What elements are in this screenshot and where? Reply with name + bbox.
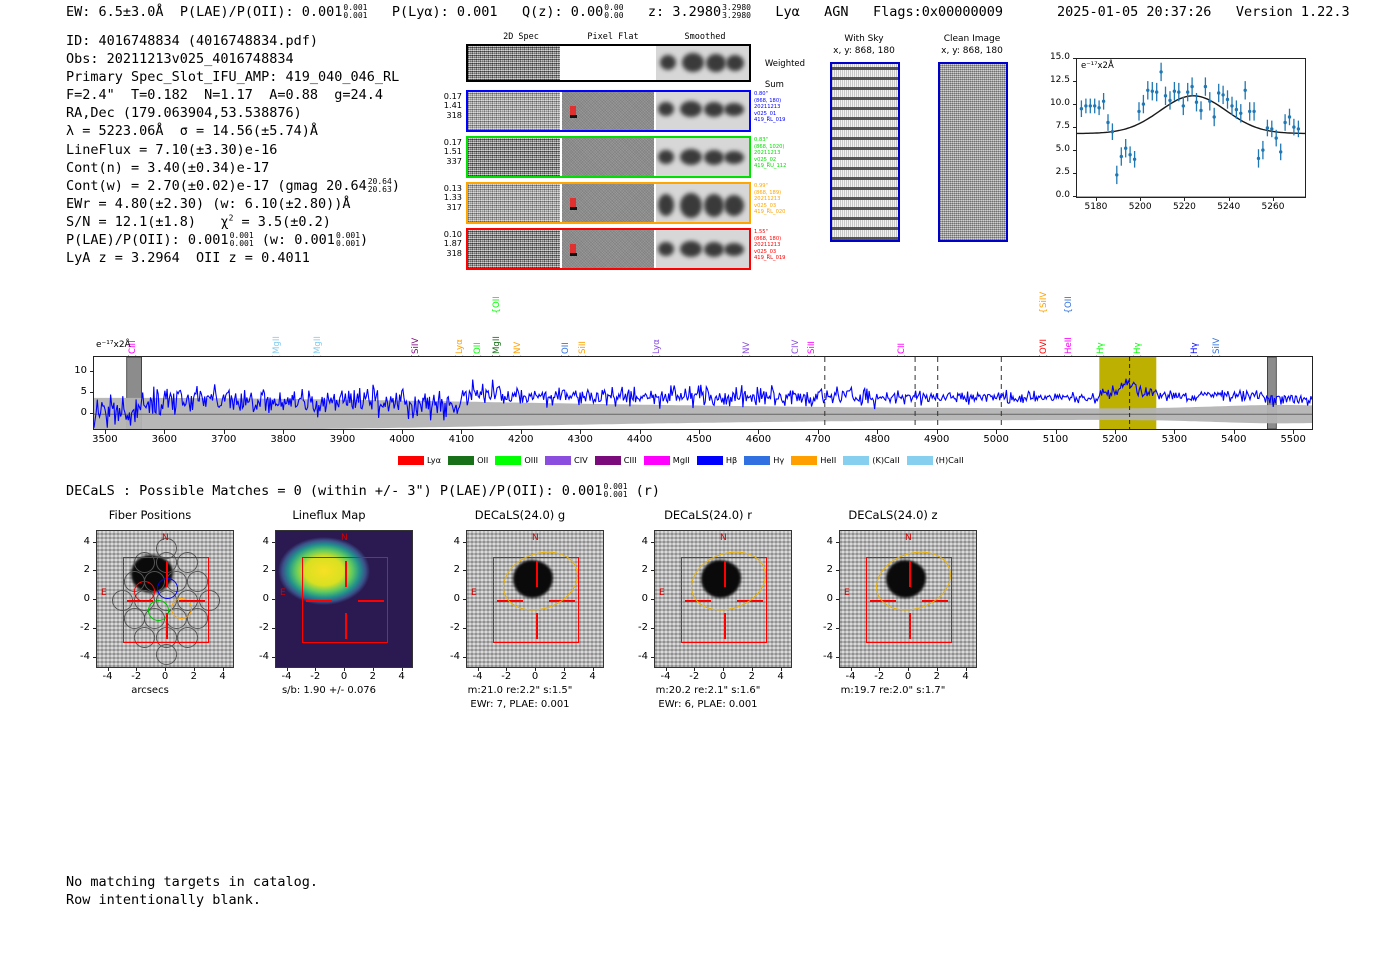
emission-line-label: MgII — [313, 324, 323, 354]
decals-xtick-label: 0 — [334, 671, 354, 682]
spectrum-xtick-label: 5400 — [1214, 434, 1254, 445]
decals-ytick-label: -2 — [245, 622, 269, 633]
decals-caption-2: EWr: 7, PLAE: 0.001 — [436, 698, 604, 711]
east-label: E — [471, 588, 477, 598]
decals-ytick-label: -4 — [624, 651, 648, 662]
row-smoothed-image — [656, 230, 749, 268]
decals-ytick-label: 2 — [436, 564, 460, 575]
crosshair-vertical-bottom — [345, 613, 347, 639]
spectrum-xtick-label: 4600 — [738, 434, 778, 445]
spectrum-xtick-label: 4800 — [857, 434, 897, 445]
spectrum-xtick-label: 5100 — [1036, 434, 1076, 445]
full-spectrum-units-annotation: e⁻¹⁷x2Å — [96, 340, 131, 350]
decals-ytick — [93, 542, 96, 543]
spectrum-xtick-label: 3900 — [323, 434, 363, 445]
legend-label: Lyα — [427, 455, 441, 465]
emission-line-label: OII — [1064, 278, 1074, 308]
info-plae: P(LAE)/P(OII): 0.001 — [66, 232, 229, 248]
header-qz-label: Q(z): — [522, 4, 563, 20]
line-fit-ytick — [1073, 58, 1076, 59]
decals-ytick-label: 2 — [245, 564, 269, 575]
legend-label: MgII — [673, 455, 690, 465]
line-fit-ytick — [1073, 81, 1076, 82]
emission-line-label: SiII — [578, 324, 588, 354]
row-smoothed-image — [656, 184, 749, 222]
decals-panel-title: DECaLS(24.0) r — [624, 508, 792, 522]
east-label: E — [659, 588, 665, 598]
line-fit-ytick — [1073, 196, 1076, 197]
line-fit-xtick — [1140, 198, 1141, 201]
decals-panel-title: DECaLS(24.0) g — [436, 508, 604, 522]
row-pixelflat-image — [562, 92, 654, 130]
crosshair-horizontal-left — [306, 600, 332, 602]
north-label: N — [720, 533, 727, 543]
legend-label: HeII — [820, 455, 836, 465]
emission-line-legend: Lyα OII OIII CIV CIII MgII Hβ Hγ HeII (K… — [398, 455, 964, 465]
header-plya-value: 0.001 — [457, 4, 498, 20]
row-metadata: 1.55"(868, 180)20211213v025_03419_RL_019 — [754, 229, 786, 262]
decals-ytick-label: -4 — [245, 651, 269, 662]
info-cont-w: Cont(w) = 2.70(±0.02)e-17 (gmag 20.64 — [66, 178, 367, 194]
decals-panel: DECaLS(24.0) gNE-4-4-2-2002244m:21.0 re:… — [436, 508, 604, 723]
decals-panel: DECaLS(24.0) zNE-4-4-2-2002244m:19.7 re:… — [809, 508, 977, 723]
row-2dspec-image — [468, 138, 560, 176]
with-sky-image — [830, 62, 900, 242]
decals-ytick-label: -4 — [66, 651, 90, 662]
decals-xlabel: arcsecs — [66, 684, 234, 697]
emission-line-label: NV — [742, 324, 752, 354]
spectrum-xtick-label: 3800 — [263, 434, 303, 445]
decals-xtick-label: -4 — [468, 671, 488, 682]
footer-notes: No matching targets in catalog. Row inte… — [66, 873, 318, 909]
row-stat-3: 317 — [420, 203, 462, 212]
spectrum-xtick-label: 3600 — [144, 434, 184, 445]
decals-ytick-label: 0 — [436, 593, 460, 604]
source-info-block: ID: 4016748834 (4016748834.pdf) Obs: 202… — [66, 32, 400, 267]
decals-ytick-label: 4 — [245, 536, 269, 547]
emission-line-brace: { — [1039, 308, 1049, 314]
decals-ytick-label: 2 — [624, 564, 648, 575]
decals-ytick-label: 0 — [66, 593, 90, 604]
decals-ytick-label: -4 — [436, 651, 460, 662]
info-plae-close: ) — [360, 232, 368, 248]
legend-item: OII — [448, 455, 488, 465]
decals-ytick — [272, 657, 275, 658]
decals-panel-title: Fiber Positions — [66, 508, 234, 522]
line-fit-ytick-label: 5.0 — [1036, 144, 1070, 154]
with-sky-title-xy: x, y: 868, 180 — [833, 46, 895, 56]
emission-line-brace: { — [1064, 308, 1074, 314]
row-2dspec-image — [468, 184, 560, 222]
line-fit-xtick-label: 5180 — [1082, 202, 1110, 212]
decals-ytick — [93, 657, 96, 658]
legend-item: OIII — [495, 455, 538, 465]
line-fit-plot-area: e⁻¹⁷x2Å — [1076, 58, 1306, 198]
decals-caption-1: m:20.2 re:2.1" s:1.6" — [624, 684, 792, 697]
decals-ytick — [651, 657, 654, 658]
row-pixelflat-image — [562, 184, 654, 222]
decals-caption-2: EWr: 6, PLAE: 0.001 — [624, 698, 792, 711]
decals-cutout-row: Fiber PositionsNE-4-4-2-2002244arcsecsLi… — [0, 508, 1400, 728]
legend-label: (H)CaII — [936, 455, 964, 465]
decals-ytick-label: 4 — [436, 536, 460, 547]
legend-item: Lyα — [398, 455, 441, 465]
crosshair-vertical-bottom — [724, 613, 726, 639]
row-smoothed-image — [656, 138, 749, 176]
decals-panel-image: NE — [839, 530, 977, 668]
legend-label: Hγ — [773, 455, 784, 465]
legend-label: CIII — [624, 455, 637, 465]
info-primary-spec: Primary Spec_Slot_IFU_AMP: 419_040_046_R… — [66, 69, 399, 85]
decals-xtick-label: 4 — [392, 671, 412, 682]
row-metadata: 0.83"(868, 1020)20211213v025_02419_RU_11… — [754, 137, 786, 170]
line-fit-ytick-label: 15.0 — [1036, 52, 1070, 62]
line-fit-xtick — [1229, 198, 1230, 201]
spec2d-row — [466, 90, 751, 132]
decals-ytick — [836, 657, 839, 658]
info-ewr: EWr = 4.80(±2.30) (w: 6.10(±2.80))Å — [66, 196, 350, 212]
legend-item: MgII — [644, 455, 690, 465]
row-stats: 0.17 1.51 337 — [420, 138, 462, 166]
clean-image-title-xy: x, y: 868, 180 — [941, 46, 1003, 56]
line-fit-ytick — [1073, 104, 1076, 105]
decals-xtick-label: 2 — [554, 671, 574, 682]
decals-header-band: (r) — [636, 483, 660, 499]
spectrum-xtick-label: 5300 — [1154, 434, 1194, 445]
header-qz-lo: 0.00 — [604, 12, 623, 20]
emission-line-label: OII — [561, 324, 571, 354]
decals-panel-image: NE — [275, 530, 413, 668]
info-radec: RA,Dec (179.063904,53.538876) — [66, 105, 302, 121]
emission-line-label: OVI — [1039, 324, 1049, 354]
spectrum-ytick — [90, 413, 93, 414]
decals-ytick-label: 4 — [66, 536, 90, 547]
crosshair-horizontal-right — [179, 600, 205, 602]
decals-caption-1: m:21.0 re:2.2" s:1.5" — [436, 684, 604, 697]
header-z-label: z: — [648, 4, 664, 20]
crosshair-vertical-top — [345, 561, 347, 587]
decals-xtick-label: -2 — [126, 671, 146, 682]
legend-swatch — [495, 456, 521, 465]
decals-ytick — [836, 599, 839, 600]
footer-line-2: Row intentionally blank. — [66, 892, 261, 908]
header-summary-line: EW: 6.5±3.0Å P(LAE)/P(OII): 0.0010.0010.… — [66, 4, 1003, 20]
footer-line-1: No matching targets in catalog. — [66, 874, 318, 890]
legend-swatch — [843, 456, 869, 465]
emission-line-label: SiIV — [1212, 324, 1222, 354]
emission-line-brace: { — [492, 308, 502, 314]
decals-panel: Fiber PositionsNE-4-4-2-2002244arcsecs — [66, 508, 234, 723]
decals-ytick-label: 0 — [245, 593, 269, 604]
decals-xtick-label: 0 — [155, 671, 175, 682]
info-lineflux: LineFlux = 7.10(±3.30)e-16 — [66, 142, 277, 158]
header-z-lo: 3.2980 — [722, 12, 751, 20]
spectrum-xtick-label: 5500 — [1273, 434, 1313, 445]
decals-xtick-label: 0 — [525, 671, 545, 682]
decals-ytick — [651, 570, 654, 571]
row-metadata: 0.80"(868, 180)20211213v025_01419_RL_019 — [754, 91, 786, 124]
row-stats: 0.10 1.87 318 — [420, 230, 462, 258]
spec2d-row — [466, 136, 751, 178]
decals-panel: DECaLS(24.0) rNE-4-4-2-2002244m:20.2 re:… — [624, 508, 792, 723]
fiber-circle — [156, 644, 177, 665]
row-smoothed-image — [656, 92, 749, 130]
info-chi-symbol: χ — [220, 214, 228, 230]
emission-line-label: MgII — [492, 324, 502, 354]
header-plae-label: P(LAE)/P(OII): — [180, 4, 294, 20]
decals-xtick-label: 4 — [213, 671, 233, 682]
spectrum-xtick-label: 4700 — [798, 434, 838, 445]
emission-line-label: Lyα — [652, 324, 662, 354]
info-gmag-lo: 20.63 — [368, 186, 392, 194]
info-plae-w-lo: 0.001 — [336, 240, 360, 248]
header-qz-value: 0.00 — [571, 4, 604, 20]
crosshair-horizontal-right — [358, 600, 384, 602]
header-plya-label: P(Lyα): — [392, 4, 449, 20]
spectrum-xtick-label: 4000 — [382, 434, 422, 445]
decals-ytick — [836, 570, 839, 571]
info-obs: Obs: 20211213v025_4016748834 — [66, 51, 294, 67]
line-fit-xtick-label: 5200 — [1126, 202, 1154, 212]
decals-ytick-label: -2 — [624, 622, 648, 633]
east-label: E — [280, 588, 286, 598]
spec2d-row — [466, 228, 751, 270]
spectrum-ytick-label: 0 — [60, 407, 87, 418]
header-z-value: 3.2980 — [672, 4, 721, 20]
with-sky-title-line1: With Sky — [844, 34, 883, 44]
crosshair-vertical-bottom — [909, 613, 911, 639]
line-fit-ytick-label: 10.0 — [1036, 98, 1070, 108]
row-stats: 0.13 1.33 317 — [420, 184, 462, 212]
line-fit-ytick-label: 7.5 — [1036, 121, 1070, 131]
full-spectrum-plot-area — [93, 356, 1313, 430]
decals-ytick-label: 0 — [809, 593, 833, 604]
row-pixelflat-image — [562, 230, 654, 268]
line-fit-ytick-label: 12.5 — [1036, 75, 1070, 85]
row-pixelflat-image — [562, 138, 654, 176]
decals-ytick — [272, 628, 275, 629]
clean-image-title: Clean Image x, y: 868, 180 — [926, 34, 1018, 57]
info-seeing-params: F=2.4" T=0.182 N=1.17 A=0.88 g=24.4 — [66, 87, 383, 103]
line-fit-xtick-label: 5260 — [1259, 202, 1287, 212]
decals-xtick-label: -2 — [869, 671, 889, 682]
legend-swatch — [697, 456, 723, 465]
emission-line-label: Hγ — [1133, 324, 1143, 354]
decals-ytick-label: 4 — [624, 536, 648, 547]
decals-xtick-label: 4 — [956, 671, 976, 682]
legend-label: (K)CaII — [872, 455, 899, 465]
header-classification: AGN — [824, 4, 848, 20]
decals-ytick — [93, 570, 96, 571]
spec2d-panel: 2D Spec Pixel Flat Smoothed Weighted Sum — [440, 32, 785, 272]
decals-ytick-label: -2 — [66, 622, 90, 633]
info-chi-value: = 3.5(±0.2) — [233, 214, 331, 230]
info-id: ID: 4016748834 (4016748834.pdf) — [66, 33, 318, 49]
info-sn: S/N = 12.1(±1.8) — [66, 214, 220, 230]
decals-xtick-label: -4 — [841, 671, 861, 682]
emission-line-label: NV — [513, 324, 523, 354]
line-fit-ytick-label: 2.5 — [1036, 167, 1070, 177]
decals-ytick — [272, 542, 275, 543]
decals-xtick-label: 4 — [771, 671, 791, 682]
spec2d-row — [466, 182, 751, 224]
decals-plae-lo: 0.001 — [603, 491, 627, 499]
spectrum-xtick-label: 3500 — [85, 434, 125, 445]
emission-line-label: Hγ — [1190, 324, 1200, 354]
east-label: E — [101, 588, 107, 598]
spectrum-ytick — [90, 371, 93, 372]
info-redshifts: LyA z = 3.2964 OII z = 0.4011 — [66, 250, 310, 266]
decals-ytick-label: 0 — [624, 593, 648, 604]
header-meta: 2025-01-05 20:37:26 Version 1.22.3 — [1057, 4, 1350, 20]
row-stat-3: 318 — [420, 111, 462, 120]
decals-xtick-label: -2 — [684, 671, 704, 682]
legend-item: (K)CaII — [843, 455, 899, 465]
legend-swatch — [545, 456, 571, 465]
full-spectrum-chart: CIII{MgII{MgII{SiIV{Lyα{OII{MgII{OII{NV{… — [60, 276, 1340, 466]
decals-xtick-label: 2 — [363, 671, 383, 682]
decals-panel-title: DECaLS(24.0) z — [809, 508, 977, 522]
decals-xtick-label: -2 — [496, 671, 516, 682]
decals-xtick-label: -4 — [656, 671, 676, 682]
decals-xtick-label: -2 — [305, 671, 325, 682]
legend-item: (H)CaII — [907, 455, 964, 465]
line-fit-ytick — [1073, 173, 1076, 174]
legend-item: CIII — [595, 455, 637, 465]
header-line-id: Lyα — [775, 4, 799, 20]
decals-ytick-label: 2 — [809, 564, 833, 575]
info-cont-n: Cont(n) = 3.40(±0.34)e-17 — [66, 160, 269, 176]
decals-panel-title: Lineflux Map — [245, 508, 413, 522]
line-fit-units-annotation: e⁻¹⁷x2Å — [1081, 61, 1114, 71]
decals-caption-1: s/b: 1.90 +/- 0.076 — [245, 684, 413, 697]
spectrum-xtick-label: 4400 — [620, 434, 660, 445]
emission-line-labels: CIII{MgII{MgII{SiIV{Lyα{OII{MgII{OII{NV{… — [60, 276, 1340, 356]
header-version: Version 1.22.3 — [1236, 4, 1350, 20]
line-fit-xtick-label: 5220 — [1170, 202, 1198, 212]
spectrum-xtick-label: 4300 — [560, 434, 600, 445]
legend-label: OII — [477, 455, 488, 465]
spectrum-ytick-label: 5 — [60, 386, 87, 397]
legend-swatch — [744, 456, 770, 465]
emission-line-label: CII — [897, 324, 907, 354]
decals-ytick — [463, 628, 466, 629]
row-2dspec-image — [468, 230, 560, 268]
emission-line-label: CIV — [791, 324, 801, 354]
info-plae-lo: 0.001 — [230, 240, 254, 248]
north-label: N — [532, 533, 539, 543]
decals-ytick — [651, 599, 654, 600]
legend-item: Hβ — [697, 455, 737, 465]
decals-ytick-label: -2 — [436, 622, 460, 633]
north-label: N — [162, 533, 169, 543]
legend-swatch — [448, 456, 474, 465]
spectrum-xtick-label: 5000 — [976, 434, 1016, 445]
emission-line-label: MgII — [272, 324, 282, 354]
decals-panel-image: NE — [466, 530, 604, 668]
decals-ytick — [836, 628, 839, 629]
legend-item: HeII — [791, 455, 836, 465]
decals-xtick-label: -4 — [277, 671, 297, 682]
emission-line-label: HeII — [1064, 324, 1074, 354]
line-fit-xtick-label: 5240 — [1215, 202, 1243, 212]
spectrum-xtick-label: 4200 — [501, 434, 541, 445]
decals-ytick — [272, 599, 275, 600]
decals-ytick-label: -2 — [809, 622, 833, 633]
decals-ytick-label: -4 — [809, 651, 833, 662]
spectrum-xtick-label: 4100 — [441, 434, 481, 445]
legend-swatch — [791, 456, 817, 465]
legend-label: OIII — [524, 455, 538, 465]
row-2dspec-image — [468, 92, 560, 130]
crosshair-horizontal-left — [127, 600, 153, 602]
decals-header-text: DECaLS : Possible Matches = 0 (within +/… — [66, 483, 602, 499]
legend-swatch — [595, 456, 621, 465]
info-cont-w-close: ) — [392, 178, 400, 194]
line-fit-xtick — [1184, 198, 1185, 201]
emission-line-label: SiIV — [1039, 278, 1049, 308]
header-plae-value: 0.001 — [302, 4, 343, 20]
decals-panel-image: NE — [654, 530, 792, 668]
decals-xtick-label: 0 — [713, 671, 733, 682]
row-stats: 0.17 1.41 318 — [420, 92, 462, 120]
east-label: E — [844, 588, 850, 598]
clean-image-title-line1: Clean Image — [944, 34, 1001, 44]
line-fit-xtick — [1096, 198, 1097, 201]
header-timestamp: 2025-01-05 20:37:26 — [1057, 4, 1211, 20]
decals-ytick — [463, 542, 466, 543]
decals-ytick — [93, 628, 96, 629]
clean-image-image — [938, 62, 1008, 242]
decals-ytick — [272, 570, 275, 571]
line-fit-ytick — [1073, 127, 1076, 128]
legend-item: CIV — [545, 455, 588, 465]
spectrum-ytick-label: 10 — [60, 365, 87, 376]
spec2d-fiber-rows: 0.17 1.41 3180.80"(868, 180)20211213v025… — [440, 32, 785, 272]
emission-line-label: SiII — [807, 324, 817, 354]
decals-ytick — [463, 570, 466, 571]
decals-xtick-label: 2 — [927, 671, 947, 682]
decals-caption-1: m:19.7 re:2.0" s:1.7" — [809, 684, 977, 697]
legend-label: CIV — [574, 455, 588, 465]
spectrum-xtick-label: 3700 — [204, 434, 244, 445]
legend-swatch — [398, 456, 424, 465]
decals-ytick — [463, 657, 466, 658]
decals-xtick-label: 0 — [898, 671, 918, 682]
header-flags: Flags:0x00000009 — [873, 4, 1003, 20]
crosshair-vertical-bottom — [166, 613, 168, 639]
decals-ytick — [836, 542, 839, 543]
line-fit-xtick — [1273, 198, 1274, 201]
spectrum-ytick — [90, 392, 93, 393]
line-fit-chart: e⁻¹⁷x2Å 518052005220524052600.02.55.07.5… — [1040, 52, 1310, 207]
decals-header: DECaLS : Possible Matches = 0 (within +/… — [66, 483, 660, 499]
with-sky-title: With Sky x, y: 868, 180 — [818, 34, 910, 57]
spectrum-xtick-label: 4500 — [679, 434, 719, 445]
north-label: N — [341, 533, 348, 543]
crosshair-vertical-bottom — [536, 613, 538, 639]
legend-label: Hβ — [726, 455, 737, 465]
decals-ytick — [463, 599, 466, 600]
row-metadata: 0.99"(868, 189)20211213v025_03419_RL_020 — [754, 183, 786, 216]
header-plae-lo: 0.001 — [343, 12, 367, 20]
emission-line-label: Lyα — [455, 324, 465, 354]
decals-ytick-label: 2 — [66, 564, 90, 575]
decals-ytick — [651, 628, 654, 629]
decals-ytick — [651, 542, 654, 543]
row-stat-3: 318 — [420, 249, 462, 258]
decals-xtick-label: 2 — [742, 671, 762, 682]
